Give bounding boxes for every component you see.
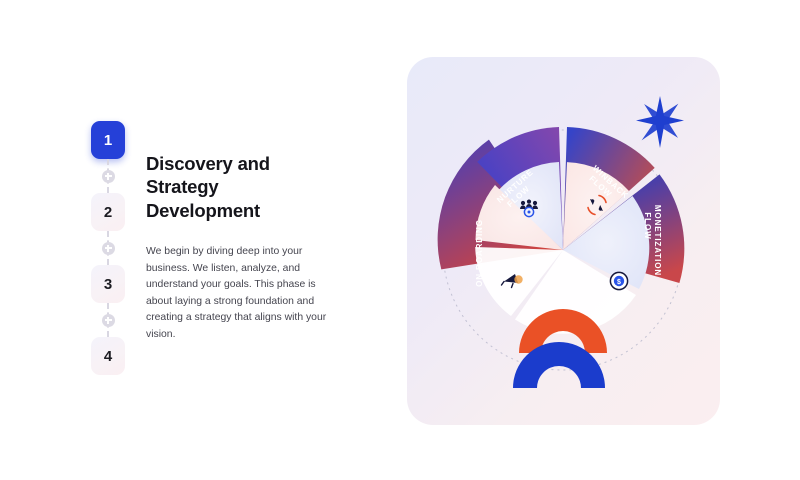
diagram-card: ON BOARDING NURTURE FLOW WINBACK FLOW MO…	[407, 57, 720, 425]
step-item-2[interactable]: 2	[91, 193, 125, 231]
step-item-1[interactable]: 1	[91, 121, 125, 159]
step-item-3[interactable]: 3	[91, 265, 125, 303]
step-connector-2	[101, 231, 115, 265]
flow-wheel-diagram: ON BOARDING NURTURE FLOW WINBACK FLOW MO…	[407, 57, 720, 425]
plus-icon	[102, 242, 115, 255]
page-title: Discovery and Strategy Development	[146, 152, 296, 222]
step-number-3: 3	[104, 276, 112, 293]
segment-label-on-boarding: ON BOARDING	[475, 219, 484, 287]
coin-dollar-icon: $	[610, 272, 627, 289]
step-number-2: 2	[104, 204, 112, 221]
step-connector-3	[101, 303, 115, 337]
svg-text:$: $	[617, 279, 621, 286]
content-panel: 1 2 3 4 Discovery and Strategy Developme…	[0, 0, 400, 480]
step-number-1: 1	[104, 132, 112, 149]
step-item-4[interactable]: 4	[91, 337, 125, 375]
plus-icon	[102, 314, 115, 327]
plus-icon	[102, 170, 115, 183]
sparkle-star-icon	[625, 87, 696, 158]
step-number-4: 4	[104, 348, 112, 365]
text-block: Discovery and Strategy Development We be…	[146, 152, 346, 343]
step-connector-1	[101, 159, 115, 193]
step-indicator: 1 2 3 4	[91, 121, 125, 375]
body-paragraph: We begin by diving deep into your busine…	[146, 244, 338, 343]
